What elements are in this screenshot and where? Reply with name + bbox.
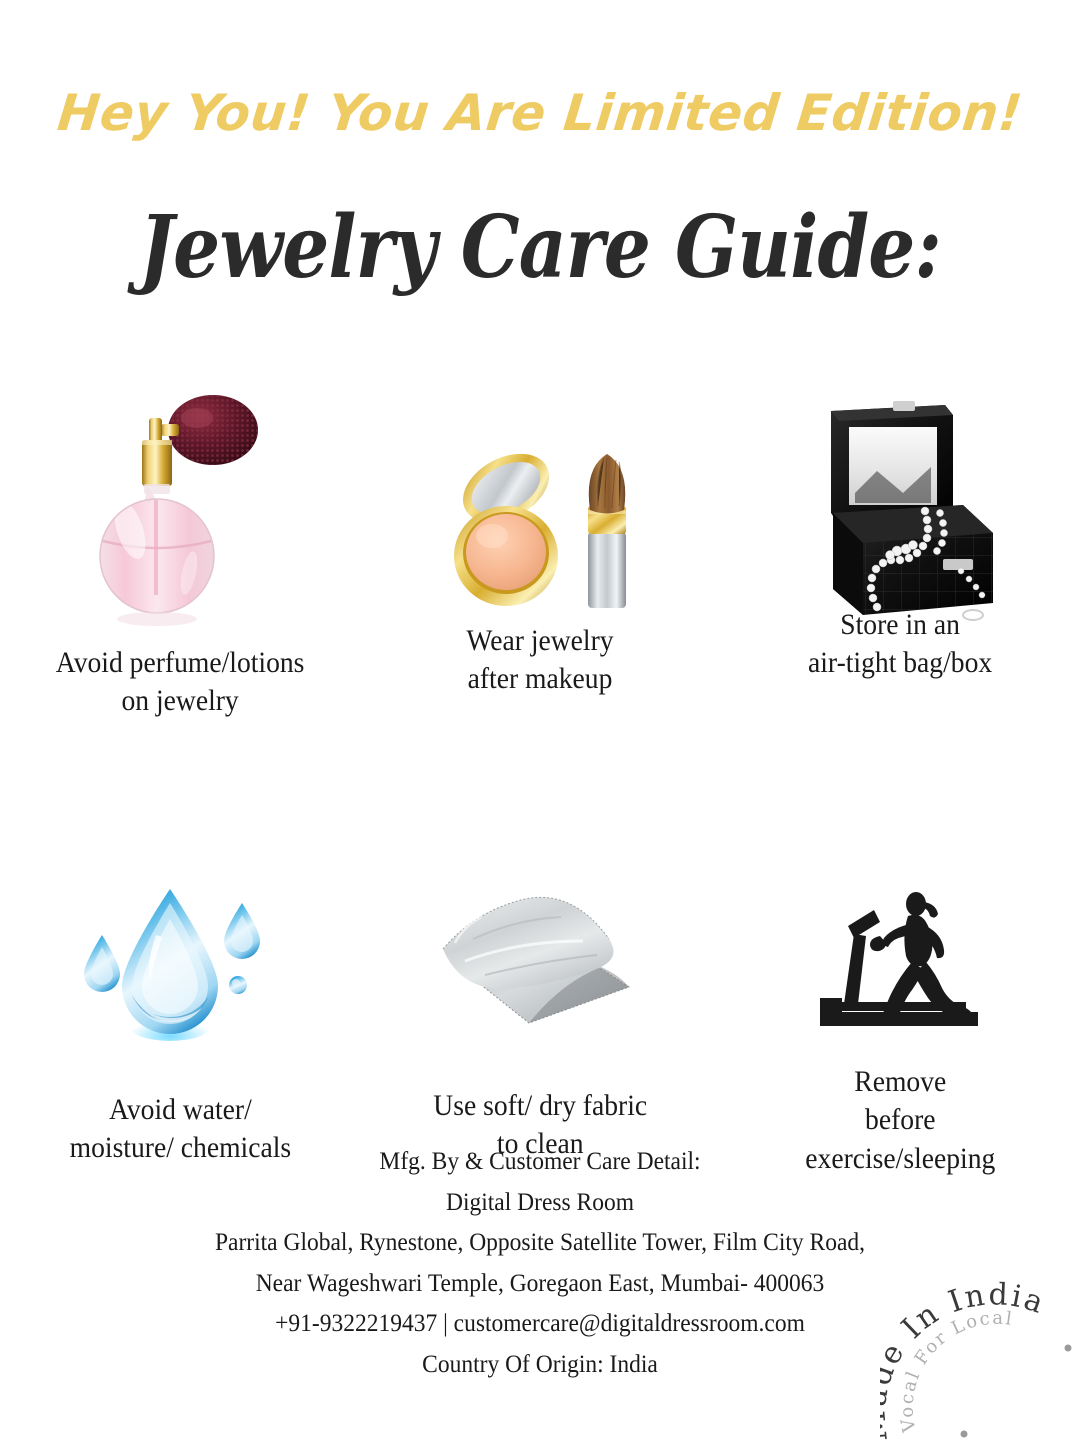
care-tips-row-2: Avoid water/ moisture/ chemicals (0, 871, 1080, 1178)
care-tip-avoid-water: Avoid water/ moisture/ chemicals (0, 871, 360, 1178)
care-tip-store-airtight: Store in an air-tight bag/box (720, 378, 1080, 721)
care-tip-soft-cloth: Use soft/ dry fabric to clean (360, 871, 720, 1178)
care-tip-caption: Store in an air-tight bag/box (808, 606, 992, 683)
care-tip-wear-after-makeup: Wear jewelry after makeup (360, 378, 720, 721)
care-tip-avoid-perfume: Avoid perfume/lotions on jewelry (0, 378, 360, 721)
badge-dot-right (1065, 1345, 1072, 1352)
jewelry-box-icon (793, 378, 1008, 628)
footer-line-address-1: Parrita Global, Rynestone, Opposite Sate… (32, 1223, 1047, 1264)
footer-line-mfg: Mfg. By & Customer Care Detail: (32, 1142, 1047, 1183)
water-droplet-icon (70, 871, 290, 1051)
makeup-compact-brush-icon (440, 378, 640, 628)
polishing-cloth-icon (433, 871, 648, 1051)
tagline: Hey You! You Are Limited Edition! (0, 84, 1080, 142)
care-tip-caption: Avoid perfume/lotions on jewelry (56, 644, 305, 721)
badge-dot-left (961, 1431, 968, 1438)
perfume-bottle-icon (85, 378, 275, 628)
made-in-india-badge: Made In India Vocal For Local (880, 1262, 1080, 1442)
treadmill-runner-icon (808, 871, 993, 1051)
care-tips-grid: Avoid perfume/lotions on jewelry (0, 378, 1080, 1178)
care-tips-row-1: Avoid perfume/lotions on jewelry (0, 378, 1080, 721)
footer-line-company: Digital Dress Room (32, 1183, 1047, 1224)
page-title: Jewelry Care Guide: (76, 197, 1005, 298)
care-tip-remove-before-exercise: Remove before exercise/sleeping (720, 871, 1080, 1178)
care-tip-caption: Wear jewelry after makeup (466, 622, 613, 699)
